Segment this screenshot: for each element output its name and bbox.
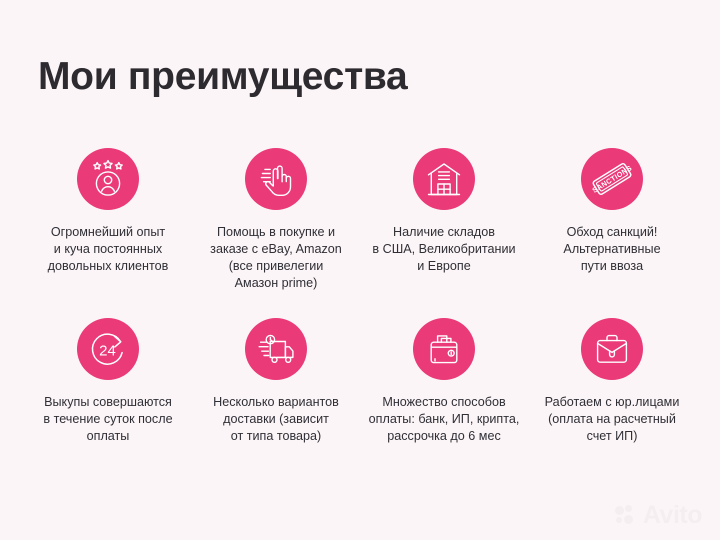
feature-label: Несколько вариантов доставки (зависит от…: [194, 394, 358, 445]
feature-item: SANCTIONS Обход санкций! Альтернативные …: [528, 148, 696, 318]
page-title: Мои преимущества: [38, 54, 407, 100]
badge-text: 24: [99, 342, 116, 359]
user-stars-icon: [77, 148, 139, 210]
feature-item: Огромнейший опыт и куча постоянных довол…: [24, 148, 192, 318]
avito-watermark-label: Avito: [643, 503, 702, 528]
feature-item: 24 Выкупы совершаются в течение суток по…: [24, 318, 192, 488]
warehouse-icon: [413, 148, 475, 210]
feature-item: Работаем с юр.лицами (оплата на расчетны…: [528, 318, 696, 488]
feature-item: Несколько вариантов доставки (зависит от…: [192, 318, 360, 488]
feature-item: Множество способов оплаты: банк, ИП, кри…: [360, 318, 528, 488]
feature-label: Выкупы совершаются в течение суток после…: [26, 394, 190, 445]
hand-click-icon: [245, 148, 307, 210]
feature-label: Обход санкций! Альтернативные пути ввоза: [530, 224, 694, 275]
wallet-icon: [413, 318, 475, 380]
avito-watermark: Avito: [615, 503, 702, 528]
feature-label: Помощь в покупке и заказе с eBay, Amazon…: [194, 224, 358, 292]
feature-label: Множество способов оплаты: банк, ИП, кри…: [362, 394, 526, 445]
feature-label: Наличие складов в США, Великобритании и …: [362, 224, 526, 275]
sanctions-stamp-icon: SANCTIONS: [581, 148, 643, 210]
feature-label: Работаем с юр.лицами (оплата на расчетны…: [530, 394, 694, 445]
delivery-truck-icon: [245, 318, 307, 380]
feature-item: Помощь в покупке и заказе с eBay, Amazon…: [192, 148, 360, 318]
avito-logo-icon: [615, 505, 639, 527]
advantages-slide: Мои преимущества Огромнейший опыт и куча…: [0, 0, 720, 540]
features-grid: Огромнейший опыт и куча постоянных довол…: [24, 148, 696, 488]
feature-label: Огромнейший опыт и куча постоянных довол…: [26, 224, 190, 275]
feature-item: Наличие складов в США, Великобритании и …: [360, 148, 528, 318]
briefcase-icon: [581, 318, 643, 380]
clock-24h-icon: 24: [77, 318, 139, 380]
